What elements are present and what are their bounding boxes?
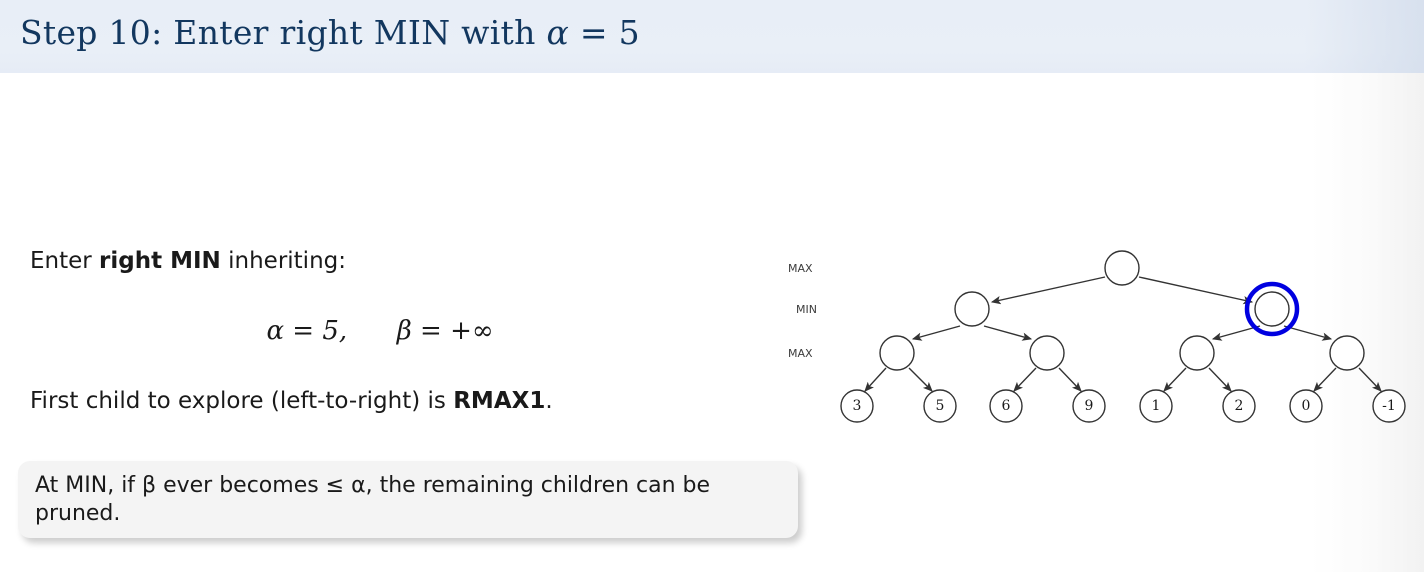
node-circle-left-min[interactable]	[955, 292, 989, 326]
node-label-leaf-1: 1	[1152, 398, 1161, 414]
first-child-prefix: First child to explore (left-to-right) i…	[30, 388, 453, 414]
title-bar-sheen	[1304, 0, 1424, 73]
enter-min-prefix: Enter	[30, 248, 99, 274]
node-label-leaf-6: 6	[1002, 398, 1011, 414]
first-child-node-name: RMAX1	[453, 388, 545, 414]
level-label-min: MIN	[796, 303, 817, 316]
tree-node-right-min[interactable]	[1247, 284, 1297, 334]
node-circle-rmax1[interactable]	[1180, 336, 1214, 370]
page-title: Step 10: Enter right MIN with α = 5	[20, 13, 640, 52]
slide-canvas: Step 10: Enter right MIN with α = 5 Ente…	[0, 0, 1424, 572]
tree-leaf-1[interactable]: 1	[1140, 390, 1172, 422]
node-circle-lmax1[interactable]	[880, 336, 914, 370]
node-label-leaf-0: 0	[1302, 398, 1311, 414]
first-child-sentence: First child to explore (left-to-right) i…	[30, 388, 553, 416]
node-label-leaf-3: 3	[853, 398, 862, 414]
first-child-suffix: .	[545, 388, 552, 414]
edge-rmax2-to-leaf-neg1	[1359, 368, 1381, 391]
alpha-beta-equation: α = 5, β = +∞	[30, 316, 730, 346]
node-circle-root[interactable]	[1105, 251, 1139, 285]
node-circle-lmax2[interactable]	[1030, 336, 1064, 370]
game-tree-figure: MAX MIN MAX	[780, 240, 1420, 440]
edge-rmax1-to-leaf-2	[1209, 368, 1231, 391]
tree-node-rmax1[interactable]	[1180, 336, 1214, 370]
tree-leaf-9[interactable]: 9	[1073, 390, 1105, 422]
level-label-max-root: MAX	[788, 262, 813, 275]
edge-lmax2-to-leaf-9	[1059, 368, 1081, 391]
pruning-note-box: At MIN, if β ever becomes ≤ α, the remai…	[18, 461, 798, 538]
equation-gap	[347, 316, 397, 346]
node-label-leaf-2: 2	[1235, 398, 1244, 414]
equation-alpha-part: α = 5,	[266, 316, 347, 346]
equation-beta-part: β = +∞	[397, 316, 494, 346]
tree-node-root-max[interactable]	[1105, 251, 1139, 285]
page-title-suffix: = 5	[569, 13, 640, 52]
edge-lmin-to-lmax1	[913, 326, 960, 339]
node-label-leaf-5: 5	[936, 398, 945, 414]
tree-node-lmax2[interactable]	[1030, 336, 1064, 370]
tree-leaf-2[interactable]: 2	[1223, 390, 1255, 422]
enter-min-emphasis: right MIN	[99, 248, 221, 274]
tree-leaf-5[interactable]: 5	[924, 390, 956, 422]
enter-min-sentence: Enter right MIN inheriting:	[30, 248, 346, 276]
game-tree-svg: MAX MIN MAX	[780, 240, 1420, 440]
tree-node-lmax1[interactable]	[880, 336, 914, 370]
edge-lmax1-to-leaf-5	[909, 368, 932, 391]
pruning-note-text: At MIN, if β ever becomes ≤ α, the remai…	[35, 472, 780, 528]
node-label-leaf-neg1: -1	[1382, 398, 1396, 414]
page-title-alpha-symbol: α	[546, 13, 569, 52]
node-circle-rmax2[interactable]	[1330, 336, 1364, 370]
tree-leaf-6[interactable]: 6	[990, 390, 1022, 422]
edge-lmax2-to-leaf-6	[1014, 368, 1036, 391]
edge-root-to-left-min	[992, 277, 1105, 302]
node-label-leaf-9: 9	[1085, 398, 1094, 414]
level-label-max-mid: MAX	[788, 347, 813, 360]
edge-lmin-to-lmax2	[984, 326, 1031, 339]
tree-leaf-0[interactable]: 0	[1290, 390, 1322, 422]
tree-leaf-3[interactable]: 3	[841, 390, 873, 422]
enter-min-suffix: inheriting:	[221, 248, 346, 274]
edge-rmax1-to-leaf-1	[1164, 368, 1186, 391]
tree-leaf-neg1[interactable]: -1	[1373, 390, 1405, 422]
page-title-prefix: Step 10: Enter right MIN with	[20, 13, 546, 52]
tree-edges-max-to-leaves	[865, 368, 1381, 391]
tree-node-left-min[interactable]	[955, 292, 989, 326]
edge-lmax1-to-leaf-3	[865, 368, 886, 391]
node-circle-right-min[interactable]	[1255, 292, 1289, 326]
slide-title-bar: Step 10: Enter right MIN with α = 5	[0, 0, 1424, 73]
tree-node-rmax2[interactable]	[1330, 336, 1364, 370]
edge-rmax2-to-leaf-0	[1314, 368, 1336, 391]
edge-root-to-right-min	[1139, 277, 1252, 302]
